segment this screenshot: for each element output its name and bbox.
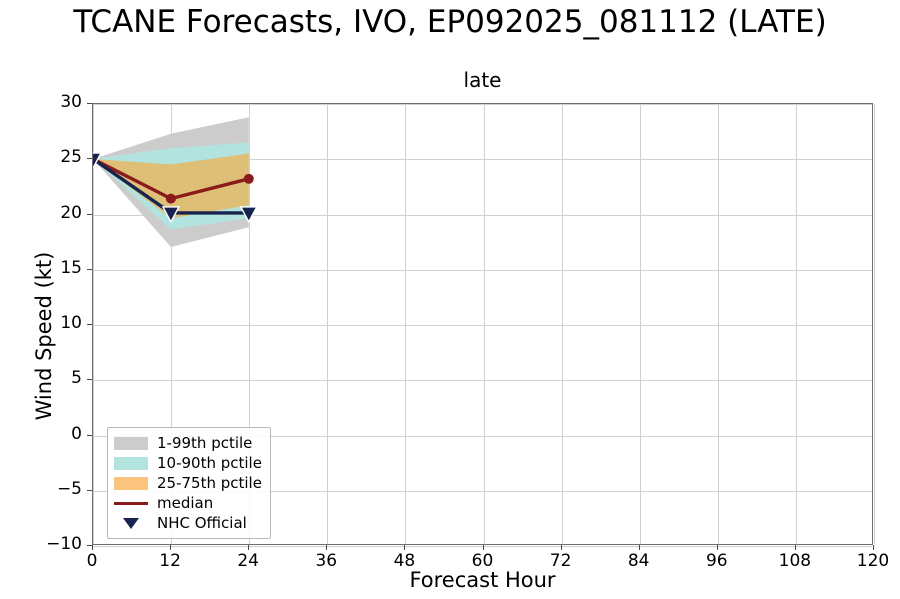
x-tick-mark (873, 545, 874, 550)
uncertainty-bands (93, 117, 249, 247)
gridline-vertical (874, 104, 875, 544)
y-tick-mark (87, 490, 92, 491)
legend-item[interactable]: 1-99th pctile (114, 433, 262, 453)
y-tick-mark (87, 103, 92, 104)
x-axis-label: Forecast Hour (92, 568, 873, 592)
figure-title: TCANE Forecasts, IVO, EP092025_081112 (L… (0, 4, 900, 40)
y-tick-label: −10 (22, 534, 82, 554)
legend-label: median (157, 494, 213, 512)
legend-item[interactable]: 10-90th pctile (114, 453, 262, 473)
x-tick-mark (639, 545, 640, 550)
median-marker (166, 194, 176, 204)
x-tick-mark (326, 545, 327, 550)
y-tick-mark (87, 214, 92, 215)
legend-swatch (114, 457, 148, 470)
x-tick-mark (483, 545, 484, 550)
x-tick-mark (404, 545, 405, 550)
x-tick-mark (795, 545, 796, 550)
y-tick-label: 30 (22, 92, 82, 112)
y-tick-mark (87, 158, 92, 159)
y-tick-mark (87, 269, 92, 270)
axes-subtitle: late (92, 68, 873, 92)
y-tick-mark (87, 379, 92, 380)
y-tick-mark (87, 545, 92, 546)
legend-swatch (114, 437, 148, 450)
y-tick-label: −5 (22, 479, 82, 499)
legend-item[interactable]: NHC Official (114, 513, 262, 533)
y-tick-mark (87, 324, 92, 325)
x-tick-mark (248, 545, 249, 550)
legend-swatch (114, 477, 148, 490)
legend-label: 10-90th pctile (157, 454, 262, 472)
legend-item[interactable]: 25-75th pctile (114, 473, 262, 493)
x-tick-mark (717, 545, 718, 550)
legend-triangle-down-icon (114, 516, 148, 530)
legend-label: 1-99th pctile (157, 434, 252, 452)
legend-item[interactable]: median (114, 493, 262, 513)
y-tick-mark (87, 435, 92, 436)
y-axis-label: Wind Speed (kt) (32, 196, 56, 476)
y-tick-label: 25 (22, 147, 82, 167)
x-tick-mark (561, 545, 562, 550)
figure-canvas: TCANE Forecasts, IVO, EP092025_081112 (L… (0, 0, 900, 599)
legend-label: 25-75th pctile (157, 474, 262, 492)
legend: 1-99th pctile10-90th pctile25-75th pctil… (107, 427, 271, 539)
legend-line-sample (114, 502, 148, 505)
x-tick-mark (92, 545, 93, 550)
median-marker (244, 174, 254, 184)
x-tick-mark (170, 545, 171, 550)
legend-label: NHC Official (157, 514, 247, 532)
